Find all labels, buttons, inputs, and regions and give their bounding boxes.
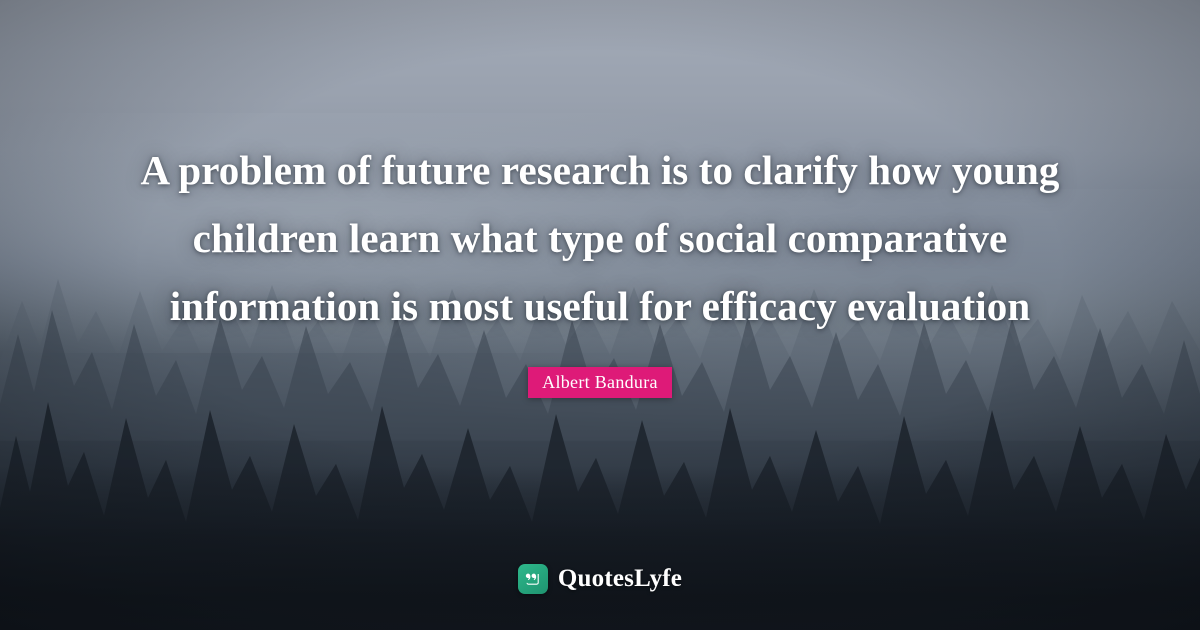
brand-logo: QuotesLyfe	[0, 564, 1200, 594]
card-content: A problem of future research is to clari…	[0, 0, 1200, 630]
quote-card: A problem of future research is to clari…	[0, 0, 1200, 630]
quote-text: A problem of future research is to clari…	[0, 136, 1200, 340]
quote-smiley-icon	[518, 564, 548, 594]
author-badge: Albert Bandura	[528, 367, 672, 398]
brand-name: QuotesLyfe	[558, 565, 682, 593]
